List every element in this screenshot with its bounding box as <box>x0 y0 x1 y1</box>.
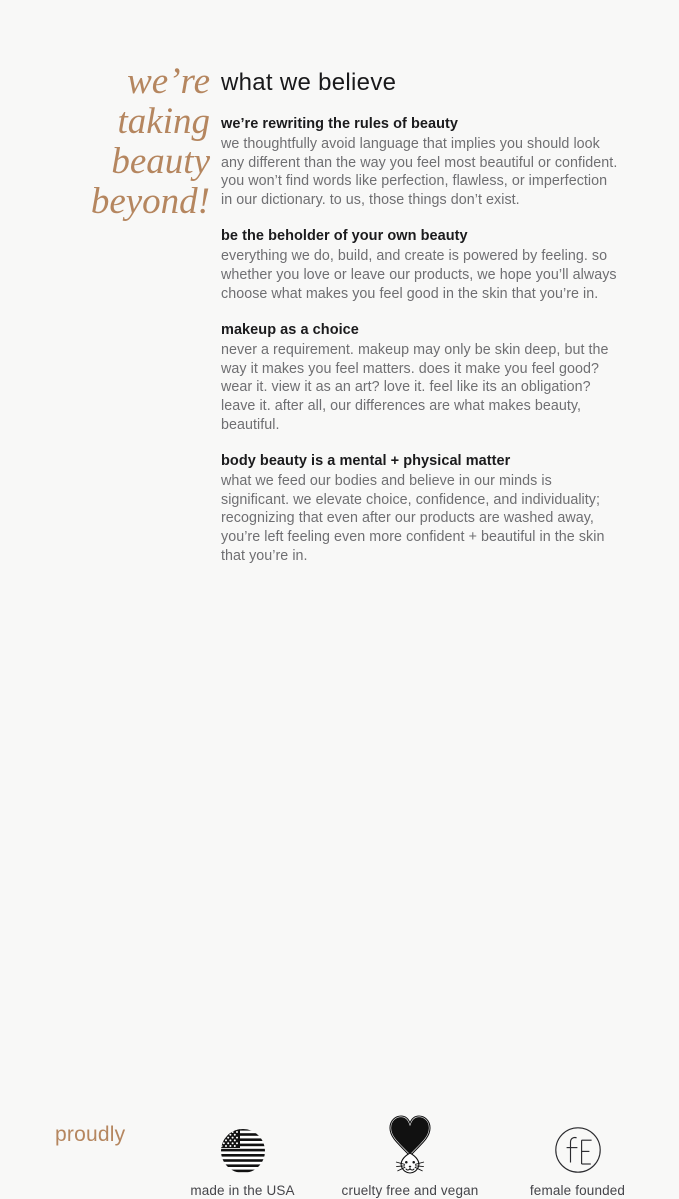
badge-artwork <box>553 1113 603 1175</box>
badge-caption: cruelty free and vegan <box>342 1183 479 1199</box>
belief-title: makeup as a choice <box>221 321 621 340</box>
proudly-label: proudly <box>55 1123 125 1147</box>
belief-item: makeup as a choice never a requirement. … <box>221 321 621 434</box>
brand-values-panel: { "colors": { "background": "#f8f8f7", "… <box>0 0 679 679</box>
proudly-badges-section: proudly <box>0 545 679 679</box>
usa-flag-circle-icon <box>219 1127 267 1175</box>
cruelty-free-bunny-heart-icon <box>383 1115 437 1175</box>
beliefs-column: what we believe we’re rewriting the rule… <box>221 69 621 565</box>
belief-title: body beauty is a mental + physical matte… <box>221 452 621 471</box>
brand-headline: we’re taking beauty beyond! <box>46 62 210 222</box>
badge-female-founded: female founded <box>495 1113 660 1199</box>
beliefs-section: we’re taking beauty beyond! what we beli… <box>0 0 679 545</box>
badge-made-in-usa: made in the USA <box>160 1113 325 1199</box>
belief-title: be the beholder of your own beauty <box>221 227 621 246</box>
belief-item: we’re rewriting the rules of beauty we t… <box>221 115 621 209</box>
headline-line-3: beauty <box>46 142 210 182</box>
belief-body: everything we do, build, and create is p… <box>221 247 621 303</box>
badge-artwork <box>383 1113 437 1175</box>
badge-list: made in the USA <box>160 1113 660 1199</box>
belief-body: we thoughtfully avoid language that impl… <box>221 135 621 209</box>
badge-caption: female founded <box>530 1183 625 1199</box>
headline-line-2: taking <box>46 102 210 142</box>
headline-line-4: beyond! <box>46 182 210 222</box>
female-founded-monogram-icon <box>553 1125 603 1175</box>
belief-item: be the beholder of your own beauty every… <box>221 227 621 303</box>
page-title: what we believe <box>221 69 621 97</box>
belief-body: never a requirement. makeup may only be … <box>221 341 621 434</box>
headline-line-1: we’re <box>46 62 210 102</box>
badge-cruelty-free: cruelty free and vegan <box>328 1113 493 1199</box>
belief-title: we’re rewriting the rules of beauty <box>221 115 621 134</box>
badge-artwork <box>219 1113 267 1175</box>
badge-caption: made in the USA <box>190 1183 294 1199</box>
